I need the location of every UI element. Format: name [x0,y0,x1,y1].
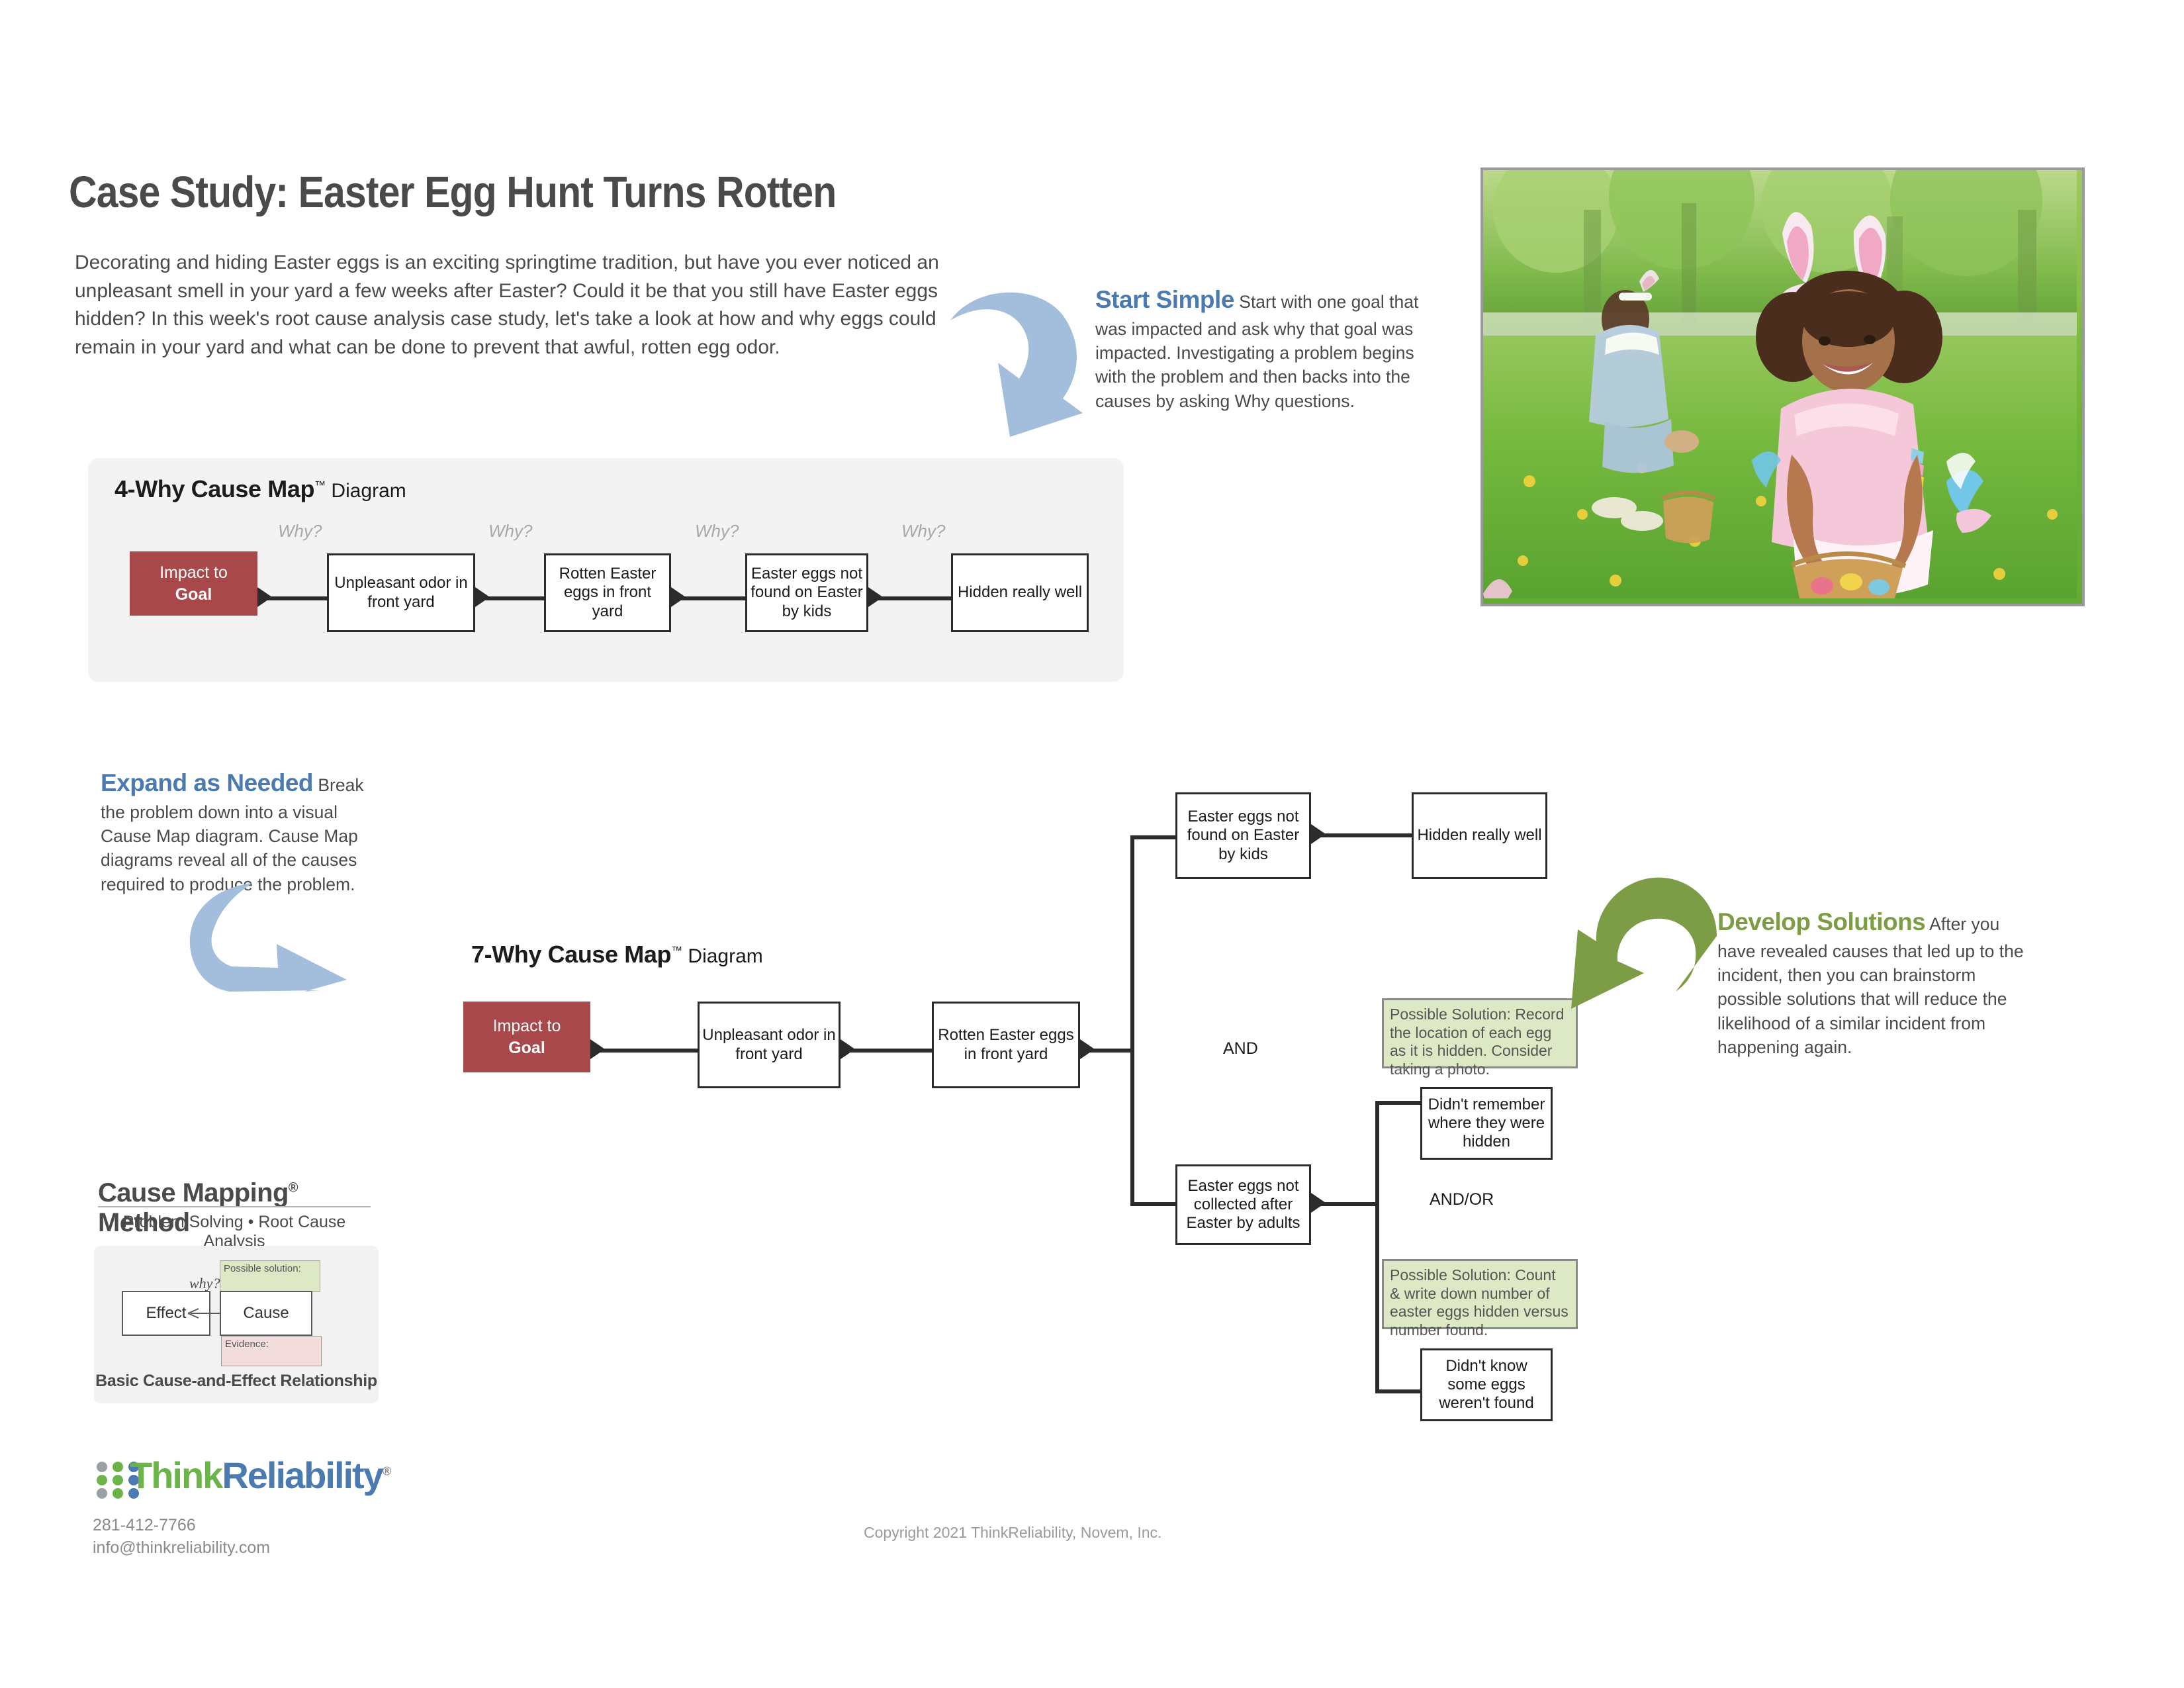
four-why-node-3: Easter eggs not found on Easter by kids [745,553,868,632]
callout-expand-head: Expand as Needed [101,769,313,796]
seven-why-connector-goal [590,1049,698,1053]
seven-why-node-didnt-remember: Didn't remember where they were hidden [1420,1087,1553,1160]
registered-icon: ® [289,1181,298,1196]
seven-why-arrowhead-goal [590,1039,605,1059]
photo-illustration [1483,170,2077,598]
why-label-2: Why? [488,521,532,541]
four-why-node-1: Unpleasant odor in front yard [327,553,475,632]
why-label-3: Why? [695,521,739,541]
seven-why-title-light: Diagram [682,945,763,967]
logo-reliability: Reliability [222,1454,383,1496]
callout-develop-solutions: Develop Solutions After you have reveale… [1717,906,2042,1059]
seven-why-title-bold: 7-Why Cause Map [471,941,671,968]
blue-curved-arrow-right-icon [184,874,349,993]
cause-mapping-divider [98,1206,371,1207]
seven-why-arrowhead-adults [1311,1193,1326,1213]
why-label-1: Why? [278,521,322,541]
copyright-notice: Copyright 2021 ThinkReliability, Novem, … [864,1524,1161,1542]
and-bracket-top [1130,835,1175,839]
four-why-goal-box: Impact to Goal [130,551,257,616]
logic-label-and-or: AND/OR [1430,1190,1494,1209]
four-why-arrowhead-4 [868,587,883,607]
seven-why-node-rotten: Rotten Easter eggs in front yard [932,1002,1080,1088]
cause-mapping-caption: Basic Cause-and-Effect Relationship [94,1372,379,1391]
why-label-4: Why? [901,521,945,541]
goal-line-1: Impact to [159,562,228,584]
seven-why-node-odor: Unpleasant odor in front yard [698,1002,841,1088]
logo-think: Think [130,1454,222,1496]
four-why-arrowhead-3 [671,587,686,607]
seven-why-node-didnt-know: Didn't know some eggs weren't found [1420,1348,1553,1421]
seven-why-node-not-collected-adults: Easter eggs not collected after Easter b… [1175,1164,1311,1245]
callout-develop-head: Develop Solutions [1717,908,1925,935]
seven-why-diagram-title: 7-Why Cause Map™ Diagram [471,941,763,968]
seven-why-arrowhead-kids [1311,824,1326,844]
and-bracket-spine [1130,835,1134,1206]
and-or-bracket-spine [1375,1101,1379,1393]
four-why-arrowhead-1 [257,587,272,607]
seven-why-goal-box: Impact to Goal [463,1002,590,1072]
registered-icon-2: ® [383,1464,390,1477]
callout-start-simple-head: Start Simple [1095,286,1234,313]
page-title: Case Study: Easter Egg Hunt Turns Rotten [69,167,884,218]
four-why-node-2: Rotten Easter eggs in front yard [544,553,671,632]
seven-why-arrowhead-odor [841,1039,855,1059]
four-why-title-light: Diagram [326,480,406,502]
contact-email[interactable]: info@thinkreliability.com [93,1538,270,1558]
seven-why-solution-record-location: Possible Solution: Record the location o… [1382,998,1578,1068]
contact-phone[interactable]: 281-412-7766 [93,1516,196,1535]
and-or-bracket-top [1375,1101,1420,1105]
seven-goal-line-1: Impact to [493,1015,561,1037]
blue-curved-arrow-down-icon [946,275,1089,441]
trademark-icon: ™ [314,479,326,492]
four-why-node-4: Hidden really well [951,553,1089,632]
thinkreliability-wordmark: ThinkReliability® [130,1454,390,1497]
four-why-diagram-title: 4-Why Cause Map™ Diagram [114,475,406,503]
seven-why-solution-count-eggs: Possible Solution: Count & write down nu… [1382,1259,1578,1329]
hero-photo [1480,167,2085,606]
and-bracket-bottom [1130,1202,1175,1206]
seven-why-arrowhead-rotten [1080,1039,1095,1059]
trademark-icon-2: ™ [671,945,682,957]
intro-paragraph: Decorating and hiding Easter eggs is an … [75,249,955,361]
four-why-arrowhead-2 [475,587,490,607]
cm-title-main: Cause Mapping [98,1178,289,1207]
callout-start-simple: Start Simple Start with one goal that wa… [1095,283,1426,413]
four-why-title-bold: 4-Why Cause Map [114,475,314,502]
goal-line-2: Goal [175,584,212,606]
and-or-bracket-bottom [1375,1389,1420,1393]
seven-why-connector-kids [1311,833,1412,837]
logic-label-and: AND [1223,1039,1258,1058]
seven-why-node-not-found-kids: Easter eggs not found on Easter by kids [1175,792,1311,879]
callout-develop-body: After you have revealed causes that led … [1717,914,2024,1057]
green-curved-arrow-down-left-icon [1570,872,1722,1018]
poster-canvas: Case Study: Easter Egg Hunt Turns Rotten… [0,0,2184,1688]
seven-goal-line-2: Goal [508,1037,545,1059]
seven-why-node-hidden-well: Hidden really well [1412,792,1547,879]
